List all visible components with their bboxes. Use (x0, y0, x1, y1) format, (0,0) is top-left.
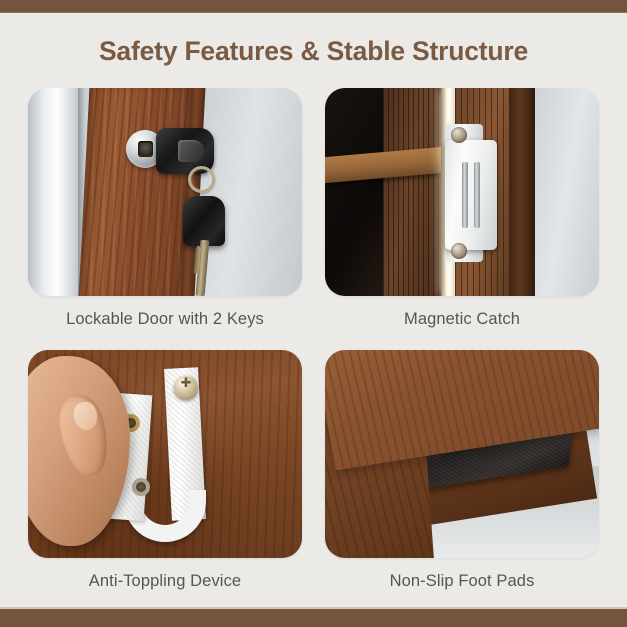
dark-interior (325, 88, 387, 296)
feature-grid: Lockable Door with 2 Keys Magnetic Catch (28, 88, 599, 588)
feature-card-non-slip-pads: Non-Slip Foot Pads (325, 350, 599, 591)
lockable-door-photo (28, 88, 302, 296)
feature-caption: Magnetic Catch (325, 310, 599, 329)
anti-toppling-device-photo (28, 350, 302, 558)
second-key-head (183, 196, 225, 246)
wood-panel-left (383, 88, 443, 296)
feature-caption: Non-Slip Foot Pads (325, 572, 599, 591)
feature-card-anti-toppling: Anti-Toppling Device (28, 350, 302, 591)
metal-eyelet-lower (132, 478, 150, 496)
mounting-screw (174, 376, 198, 400)
feature-caption: Lockable Door with 2 Keys (28, 310, 302, 329)
page-title: Safety Features & Stable Structure (0, 36, 627, 67)
non-slip-foot-pads-photo (325, 350, 599, 558)
magnet-bar-left (462, 162, 468, 228)
feature-caption: Anti-Toppling Device (28, 572, 302, 591)
wall-backdrop (196, 88, 302, 296)
feature-card-magnetic-catch: Magnetic Catch (325, 88, 599, 329)
top-accent-bar (0, 0, 627, 13)
magnet-bar-right (474, 162, 480, 228)
mirror-panel (28, 88, 84, 296)
mounting-screw-bottom (451, 243, 467, 259)
feature-card-lockable-door: Lockable Door with 2 Keys (28, 88, 302, 329)
mounting-screw-top (451, 127, 467, 143)
bottom-accent-bar (0, 607, 627, 627)
door-stile (509, 88, 535, 296)
white-magnetic-catch (445, 140, 497, 250)
magnetic-catch-photo (325, 88, 599, 296)
wall-backdrop (533, 88, 599, 296)
key-ring (188, 166, 215, 193)
